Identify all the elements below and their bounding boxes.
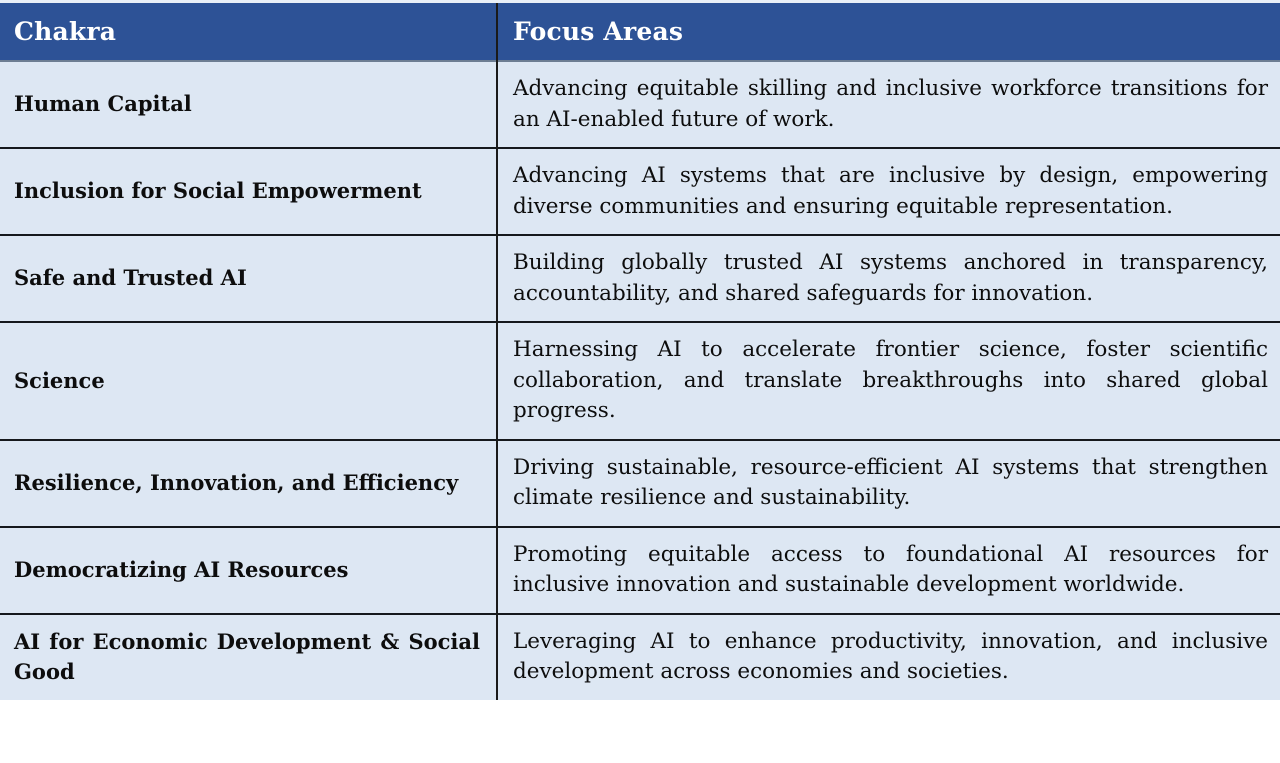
cell-focus-areas: Leveraging AI to enhance productivity, i…: [497, 614, 1280, 700]
cell-focus-areas: Harnessing AI to accelerate frontier sci…: [497, 322, 1280, 440]
chakra-name: Resilience, Innovation, and Efficiency: [14, 468, 480, 498]
table-row: Resilience, Innovation, and Efficiency D…: [0, 440, 1280, 527]
cell-chakra: Safe and Trusted AI: [0, 235, 497, 322]
focus-area-text: Leveraging AI to enhance productivity, i…: [513, 627, 1268, 688]
cell-chakra: Inclusion for Social Empowerment: [0, 148, 497, 235]
table-row: Human Capital Advancing equitable skilli…: [0, 61, 1280, 148]
table-row: Inclusion for Social Empowerment Advanci…: [0, 148, 1280, 235]
focus-area-text: Advancing AI systems that are inclusive …: [513, 161, 1268, 222]
focus-area-text: Building globally trusted AI systems anc…: [513, 248, 1268, 309]
cell-focus-areas: Driving sustainable, resource-efficient …: [497, 440, 1280, 527]
table-row: Science Harnessing AI to accelerate fron…: [0, 322, 1280, 440]
chakra-name: Safe and Trusted AI: [14, 263, 480, 293]
chakra-name: AI for Economic Development & Social Goo…: [14, 627, 480, 688]
focus-area-text: Promoting equitable access to foundation…: [513, 540, 1268, 601]
cell-focus-areas: Building globally trusted AI systems anc…: [497, 235, 1280, 322]
table-row: AI for Economic Development & Social Goo…: [0, 614, 1280, 700]
cell-chakra: Democratizing AI Resources: [0, 527, 497, 614]
focus-area-text: Advancing equitable skilling and inclusi…: [513, 74, 1268, 135]
chakra-name: Inclusion for Social Empowerment: [14, 176, 480, 206]
table-header: Chakra Focus Areas: [0, 2, 1280, 62]
focus-area-text: Harnessing AI to accelerate frontier sci…: [513, 335, 1268, 427]
column-header-focus-areas: Focus Areas: [497, 2, 1280, 62]
cell-focus-areas: Advancing equitable skilling and inclusi…: [497, 61, 1280, 148]
focus-area-text: Driving sustainable, resource-efficient …: [513, 453, 1268, 514]
chakra-name: Democratizing AI Resources: [14, 555, 480, 585]
table-row: Safe and Trusted AI Building globally tr…: [0, 235, 1280, 322]
chakra-name: Science: [14, 366, 480, 396]
cell-chakra: Resilience, Innovation, and Efficiency: [0, 440, 497, 527]
table-header-row: Chakra Focus Areas: [0, 2, 1280, 62]
cell-chakra: Human Capital: [0, 61, 497, 148]
cell-focus-areas: Promoting equitable access to foundation…: [497, 527, 1280, 614]
chakra-name: Human Capital: [14, 89, 480, 119]
cell-chakra: AI for Economic Development & Social Goo…: [0, 614, 497, 700]
table-body: Human Capital Advancing equitable skilli…: [0, 61, 1280, 700]
chakra-focus-areas-table-container: Chakra Focus Areas Human Capital Advanci…: [0, 0, 1280, 763]
table-row: Democratizing AI Resources Promoting equ…: [0, 527, 1280, 614]
cell-focus-areas: Advancing AI systems that are inclusive …: [497, 148, 1280, 235]
column-header-chakra: Chakra: [0, 2, 497, 62]
chakra-focus-areas-table: Chakra Focus Areas Human Capital Advanci…: [0, 0, 1280, 700]
cell-chakra: Science: [0, 322, 497, 440]
